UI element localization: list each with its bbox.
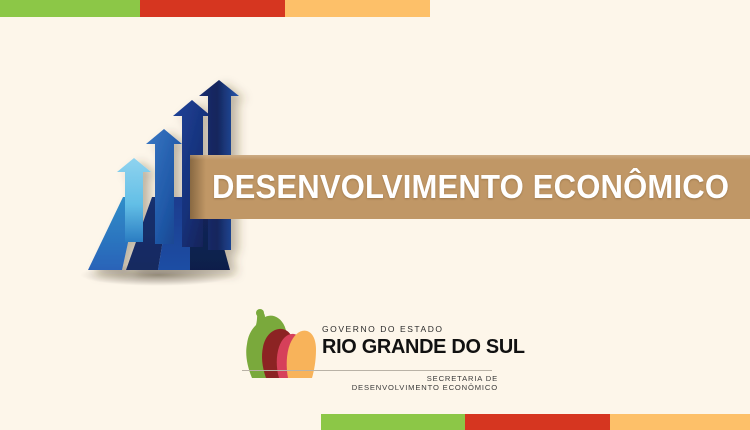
bottom-color-bar bbox=[321, 414, 750, 430]
slide-canvas: DESENVOLVIMENTO ECONÔMICO GOVERNO DO EST… bbox=[0, 0, 750, 430]
face-topknot-accent bbox=[256, 309, 264, 317]
secretaria-block: SECRETARIA DE DESENVOLVIMENTO ECONÔMICO bbox=[298, 374, 498, 393]
top-bar-segment-green bbox=[0, 0, 140, 17]
bottom-bar-segment-green bbox=[321, 414, 465, 430]
faces-silhouette-icon bbox=[238, 306, 316, 378]
top-bar-segment-red bbox=[140, 0, 285, 17]
bottom-bar-segment-orange bbox=[610, 414, 750, 430]
top-color-bar bbox=[0, 0, 430, 17]
bottom-bar-segment-red bbox=[465, 414, 610, 430]
top-bar-segment-orange bbox=[285, 0, 430, 17]
page-title: DESENVOLVIMENTO ECONÔMICO bbox=[212, 168, 729, 206]
secretaria-line-1: SECRETARIA DE bbox=[298, 374, 498, 383]
lockup-divider-rule bbox=[242, 370, 492, 371]
government-line-2: RIO GRANDE DO SUL bbox=[322, 335, 497, 359]
government-logo-lockup: GOVERNO DO ESTADO RIO GRANDE DO SUL SECR… bbox=[238, 306, 508, 390]
government-line-1: GOVERNO DO ESTADO bbox=[322, 324, 502, 334]
government-wordmark: GOVERNO DO ESTADO RIO GRANDE DO SUL bbox=[322, 324, 502, 359]
title-banner: DESENVOLVIMENTO ECONÔMICO bbox=[190, 155, 750, 219]
secretaria-line-2: DESENVOLVIMENTO ECONÔMICO bbox=[298, 383, 498, 392]
